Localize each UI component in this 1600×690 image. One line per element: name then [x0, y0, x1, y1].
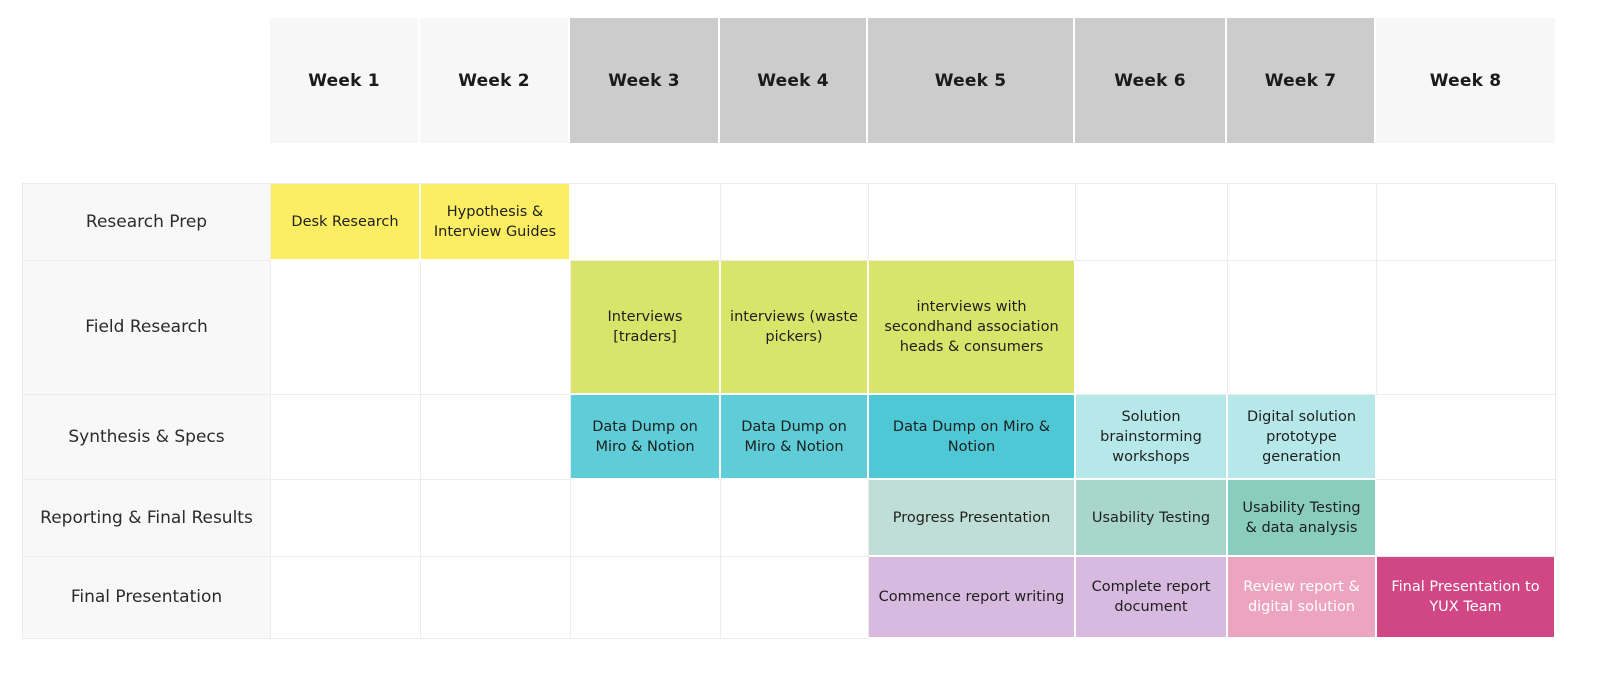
gantt-row: Research PrepDesk ResearchHypothesis & I… [23, 184, 1556, 261]
row-label-5[interactable]: Final Presentation [23, 557, 271, 639]
task-cell[interactable]: Interviews [traders] [571, 261, 721, 395]
empty-cell [271, 261, 421, 395]
week-header-cell-1[interactable]: Week 1 [270, 18, 420, 143]
empty-cell [1228, 184, 1377, 261]
empty-cell [1377, 480, 1556, 557]
task-cell[interactable]: Data Dump on Miro & Notion [721, 395, 869, 480]
gantt-row: Synthesis & SpecsData Dump on Miro & Not… [23, 395, 1556, 480]
week-header-cell-2[interactable]: Week 2 [420, 18, 570, 143]
empty-cell [721, 480, 869, 557]
empty-cell [271, 395, 421, 480]
task-cell[interactable]: Data Dump on Miro & Notion [571, 395, 721, 480]
task-cell[interactable]: interviews (waste pickers) [721, 261, 869, 395]
task-cell[interactable]: Final Presentation to YUX Team [1377, 557, 1556, 639]
week-header-cell-6[interactable]: Week 6 [1075, 18, 1227, 143]
gantt-grid: Research PrepDesk ResearchHypothesis & I… [22, 183, 1556, 639]
empty-cell [421, 261, 571, 395]
week-header-cell-4[interactable]: Week 4 [720, 18, 868, 143]
empty-cell [1377, 184, 1556, 261]
row-label-2[interactable]: Field Research [23, 261, 271, 395]
task-cell[interactable]: Solution brainstorming workshops [1076, 395, 1228, 480]
gantt-row: Final PresentationCommence report writin… [23, 557, 1556, 639]
empty-cell [571, 184, 721, 261]
task-cell[interactable]: Digital solution prototype generation [1228, 395, 1377, 480]
row-label-3[interactable]: Synthesis & Specs [23, 395, 271, 480]
gantt-row: Reporting & Final ResultsProgress Presen… [23, 480, 1556, 557]
empty-cell [271, 557, 421, 639]
empty-cell [1377, 261, 1556, 395]
task-cell[interactable]: Desk Research [271, 184, 421, 261]
week-header-cell-8[interactable]: Week 8 [1376, 18, 1555, 143]
task-cell[interactable]: interviews with secondhand association h… [869, 261, 1076, 395]
task-cell[interactable]: Data Dump on Miro & Notion [869, 395, 1076, 480]
week-header-cell-5[interactable]: Week 5 [868, 18, 1075, 143]
empty-cell [869, 184, 1076, 261]
empty-cell [421, 395, 571, 480]
task-cell[interactable]: Usability Testing & data analysis [1228, 480, 1377, 557]
empty-cell [721, 184, 869, 261]
empty-cell [1228, 261, 1377, 395]
empty-cell [421, 557, 571, 639]
task-cell[interactable]: Commence report writing [869, 557, 1076, 639]
task-cell[interactable]: Hypothesis & Interview Guides [421, 184, 571, 261]
empty-cell [571, 557, 721, 639]
week-header-cell-7[interactable]: Week 7 [1227, 18, 1376, 143]
task-cell[interactable]: Complete report document [1076, 557, 1228, 639]
week-header-row: Week 1Week 2Week 3Week 4Week 5Week 6Week… [270, 18, 1555, 143]
row-label-1[interactable]: Research Prep [23, 184, 271, 261]
empty-cell [1377, 395, 1556, 480]
empty-cell [271, 480, 421, 557]
week-header-cell-3[interactable]: Week 3 [570, 18, 720, 143]
empty-cell [571, 480, 721, 557]
task-cell[interactable]: Usability Testing [1076, 480, 1228, 557]
task-cell[interactable]: Review report & digital solution [1228, 557, 1377, 639]
gantt-row: Field ResearchInterviews [traders]interv… [23, 261, 1556, 395]
empty-cell [421, 480, 571, 557]
empty-cell [1076, 261, 1228, 395]
task-cell[interactable]: Progress Presentation [869, 480, 1076, 557]
empty-cell [721, 557, 869, 639]
gantt-chart-canvas: Week 1Week 2Week 3Week 4Week 5Week 6Week… [0, 0, 1600, 690]
row-label-4[interactable]: Reporting & Final Results [23, 480, 271, 557]
empty-cell [1076, 184, 1228, 261]
